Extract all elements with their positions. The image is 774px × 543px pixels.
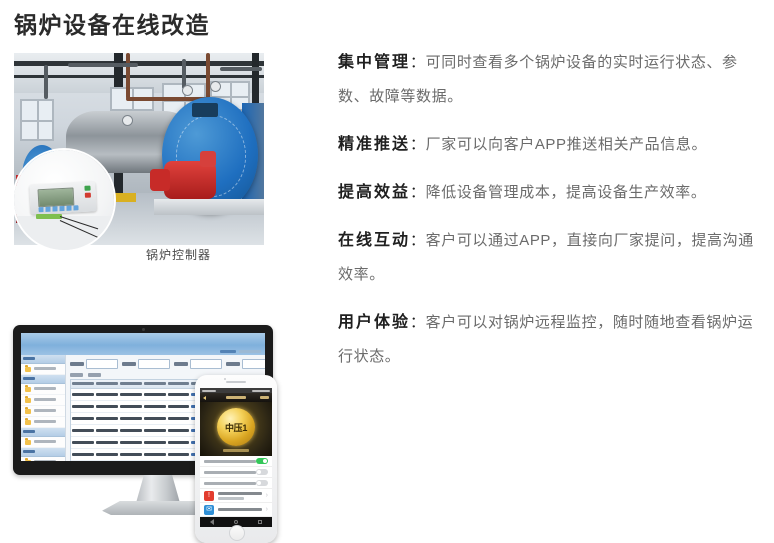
app-nav-title	[226, 396, 246, 399]
gauge-panel: 中压1	[200, 402, 272, 456]
control-list: ! › ✉ ›	[200, 456, 272, 517]
alarm-row[interactable]: ! ›	[200, 489, 272, 503]
app-header-bar	[21, 333, 265, 355]
pressure-gauge-icon	[122, 115, 133, 126]
sidebar-item[interactable]	[21, 384, 65, 395]
boiler-nameplate	[192, 103, 218, 117]
mail-icon: ✉	[204, 505, 214, 515]
filter-input[interactable]	[242, 359, 265, 369]
feature-key: 集中管理	[338, 54, 410, 71]
back-nav-icon[interactable]	[210, 519, 214, 525]
feature-colon: ：	[410, 232, 426, 249]
sidebar-group-header[interactable]	[21, 375, 65, 384]
feature-key: 在线互动	[338, 232, 410, 249]
gauge-subtitle	[223, 449, 249, 452]
sidebar-item[interactable]	[21, 417, 65, 428]
filter-input[interactable]	[138, 359, 170, 369]
chevron-right-icon: ›	[266, 492, 268, 499]
led-red-icon	[85, 193, 91, 198]
features-column: 集中管理：可同时查看多个锅炉设备的实时运行状态、参数、故障等数据。 精准推送：厂…	[338, 46, 762, 388]
feature-colon: ：	[410, 136, 426, 153]
feature-key: 用户体验	[338, 314, 410, 331]
circuit-board	[36, 214, 62, 219]
filter-label	[122, 362, 136, 366]
recents-nav-icon[interactable]	[258, 520, 262, 524]
folder-icon	[25, 460, 31, 462]
gauge-label: 中压1	[225, 421, 247, 434]
message-row[interactable]: ✉ ›	[200, 503, 272, 517]
feature-body: 降低设备管理成本，提高设备生产效率。	[426, 184, 707, 201]
app-nav-bar	[200, 393, 272, 402]
warning-icon: !	[204, 491, 214, 501]
filter-label	[226, 362, 240, 366]
filter-field	[226, 359, 265, 369]
folder-icon	[25, 420, 31, 425]
logout-link[interactable]	[239, 350, 261, 353]
control-row[interactable]	[200, 467, 272, 478]
feature-item: 用户体验：客户可以对锅炉远程监控，随时随地查看锅炉运行状态。	[338, 306, 762, 374]
promo-page: 锅炉设备在线改造	[0, 0, 774, 535]
chevron-right-icon: ›	[266, 506, 268, 513]
sidebar-group-header[interactable]	[21, 448, 65, 457]
app-sidebar	[21, 355, 66, 461]
monitor-stand-neck	[136, 475, 180, 503]
filter-label	[174, 362, 188, 366]
filter-bar	[70, 359, 261, 369]
alarm-text	[218, 492, 262, 500]
sidebar-group-header[interactable]	[21, 428, 65, 437]
feature-body: 厂家可以向客户APP推送相关产品信息。	[426, 136, 707, 153]
feature-item: 精准推送：厂家可以向客户APP推送相关产品信息。	[338, 128, 762, 162]
sidebar-group-header[interactable]	[21, 355, 65, 364]
media-column: 锅炉控制器	[0, 0, 320, 535]
sidebar-item[interactable]	[21, 457, 65, 461]
smartphone: 中压1 ! › ✉	[195, 375, 277, 543]
pressure-gauge-icon	[182, 85, 193, 96]
filter-input[interactable]	[86, 359, 118, 369]
feature-item: 在线互动：客户可以通过APP，直接向厂家提问，提高沟通效率。	[338, 224, 762, 292]
app-header-user	[220, 350, 261, 353]
filter-select[interactable]	[190, 359, 222, 369]
folder-icon	[25, 387, 31, 392]
toolbar-action[interactable]	[88, 373, 101, 377]
home-button[interactable]	[229, 525, 245, 541]
filter-field	[122, 359, 170, 369]
pipe	[206, 53, 210, 101]
pipe	[44, 65, 48, 99]
control-row[interactable]	[200, 478, 272, 489]
home-nav-icon[interactable]	[234, 520, 238, 524]
feature-colon: ：	[410, 54, 426, 71]
photo-caption: 锅炉控制器	[146, 246, 211, 263]
camera-icon	[142, 328, 145, 331]
sidebar-item[interactable]	[21, 406, 65, 417]
filter-label	[70, 362, 84, 366]
controller-lcd	[38, 187, 75, 207]
boiler-controller-closeup	[14, 150, 114, 250]
sidebar-item[interactable]	[21, 364, 65, 375]
feature-key: 精准推送	[338, 136, 410, 153]
burner-nozzle	[200, 151, 216, 167]
device-mockup: 中压1 ! › ✉	[13, 325, 303, 530]
controller-panel	[29, 181, 96, 214]
pipe	[68, 63, 138, 67]
folder-icon	[25, 409, 31, 414]
boiler-base	[154, 199, 264, 215]
feature-colon: ：	[410, 314, 426, 331]
pipe	[126, 53, 130, 99]
window	[20, 99, 54, 141]
folder-icon	[25, 398, 31, 403]
user-label	[220, 350, 236, 353]
phone-screen: 中压1 ! › ✉	[200, 388, 272, 527]
toolbar-action[interactable]	[70, 373, 83, 377]
filter-field	[174, 359, 222, 369]
toggle-switch-on[interactable]	[256, 458, 268, 464]
filter-field	[70, 359, 118, 369]
status-gauge: 中压1	[217, 408, 255, 446]
toggle-switch-off[interactable]	[256, 480, 268, 486]
sidebar-item[interactable]	[21, 395, 65, 406]
pipe	[220, 67, 262, 71]
pressure-gauge-icon	[210, 81, 221, 92]
app-nav-action[interactable]	[260, 396, 269, 399]
toggle-switch-off[interactable]	[256, 469, 268, 475]
folder-icon	[25, 440, 31, 445]
ceiling-beam	[14, 75, 264, 78]
feature-key: 提高效益	[338, 184, 410, 201]
folder-icon	[25, 367, 31, 372]
message-text	[218, 508, 262, 511]
earpiece-speaker	[226, 381, 246, 383]
feature-colon: ：	[410, 184, 426, 201]
controller-buttons	[38, 205, 78, 212]
front-camera-icon	[224, 378, 226, 380]
control-row[interactable]	[200, 456, 272, 467]
ceiling-beam	[14, 61, 264, 66]
feature-item: 集中管理：可同时查看多个锅炉设备的实时运行状态、参数、故障等数据。	[338, 46, 762, 114]
sidebar-item[interactable]	[21, 437, 65, 448]
led-green-icon	[84, 186, 90, 191]
back-arrow-icon[interactable]	[203, 396, 206, 400]
feature-item: 提高效益：降低设备管理成本，提高设备生产效率。	[338, 176, 762, 210]
